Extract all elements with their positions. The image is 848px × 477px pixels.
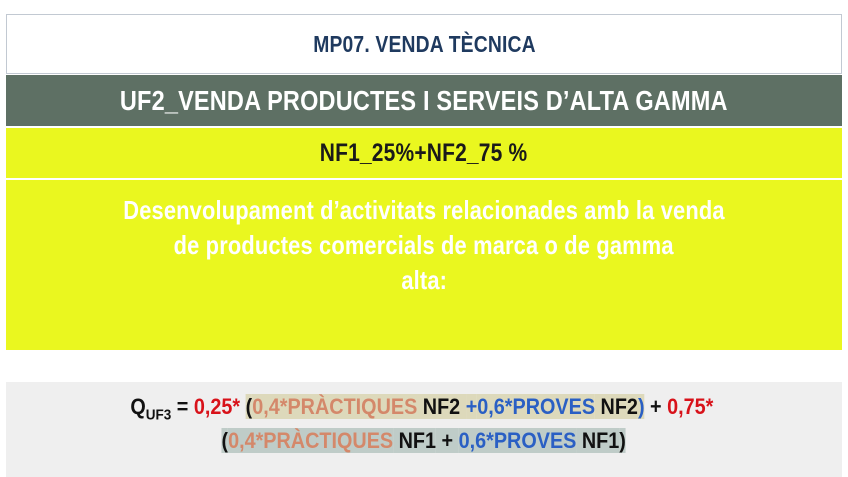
proves-term-nf2: 0,6*PROVES — [477, 394, 595, 419]
nf1-label-a: NF1 — [393, 428, 436, 453]
plus-sign-3: + — [436, 428, 459, 453]
unit-title-text: UF2_VENDA PRODUCTES I SERVEIS D’ALTA GAM… — [120, 85, 728, 117]
coefficient-075: 0,75 — [667, 394, 706, 419]
multiply-star-1: * — [233, 394, 241, 419]
nf2-label-a: NF2 — [417, 394, 465, 419]
multiply-star-2: * — [706, 394, 714, 419]
formula-line-2: (0,4*PRÀCTIQUES NF1 + 0,6*PROVES NF1) — [222, 426, 626, 455]
nf2-label-b: NF2 — [595, 394, 638, 419]
proves-term-nf1: 0,6*PROVES — [459, 428, 577, 453]
unit-title-band: UF2_VENDA PRODUCTES I SERVEIS D’ALTA GAM… — [6, 75, 842, 126]
module-title-text: MP07. VENDA TÈCNICA — [313, 31, 536, 58]
weights-text: NF1_25%+NF2_75 % — [320, 139, 528, 168]
banner-stack: MP07. VENDA TÈCNICA UF2_VENDA PRODUCTES … — [6, 14, 842, 350]
plus-sign-2: + — [645, 394, 668, 419]
weights-band: NF1_25%+NF2_75 % — [6, 128, 842, 178]
description-line-1: Desenvolupament d’activitats relacionade… — [123, 194, 724, 227]
practiques-term-nf2: 0,4*PRÀCTIQUES — [252, 394, 417, 419]
practiques-term-nf1: 0,4*PRÀCTIQUES — [228, 428, 393, 453]
formula-line-1: QUF3 = 0,25* (0,4*PRÀCTIQUES NF2 +0,6*PR… — [130, 392, 713, 425]
description-line-3: alta: — [401, 264, 447, 297]
description-band: Desenvolupament d’activitats relacionade… — [6, 180, 842, 350]
q-symbol: Q — [130, 394, 145, 419]
close-paren-2: ) — [620, 428, 627, 453]
q-subscript: UF3 — [146, 406, 172, 423]
equals-sign: = — [171, 394, 194, 419]
plus-sign-1: + — [466, 394, 478, 419]
module-title-band: MP07. VENDA TÈCNICA — [6, 14, 842, 74]
nf1-label-b: NF1 — [577, 428, 620, 453]
description-lines: Desenvolupament d’activitats relacionade… — [6, 194, 842, 296]
description-line-2: de productes comercials de marca o de ga… — [174, 229, 674, 262]
formula-box: QUF3 = 0,25* (0,4*PRÀCTIQUES NF2 +0,6*PR… — [6, 382, 842, 477]
slide-root: MP07. VENDA TÈCNICA UF2_VENDA PRODUCTES … — [0, 0, 848, 477]
coefficient-025: 0,25 — [194, 394, 233, 419]
